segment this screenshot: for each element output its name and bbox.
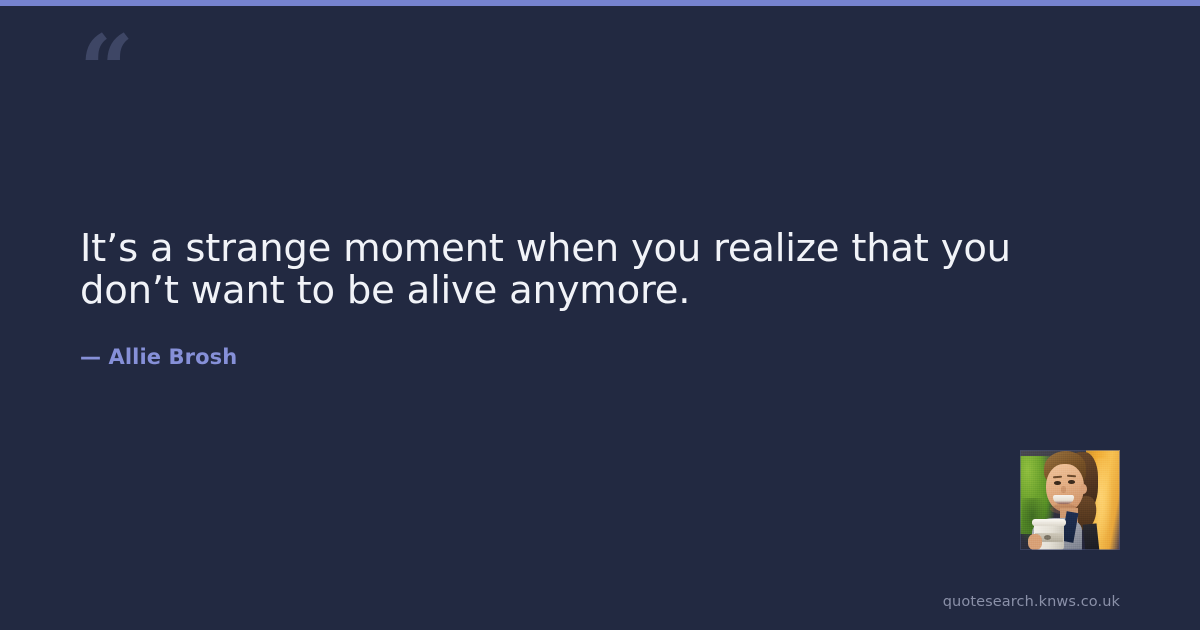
top-accent-bar — [0, 0, 1200, 6]
site-watermark: quotesearch.knws.co.uk — [943, 594, 1120, 610]
quote-attribution: — Allie Brosh — [80, 345, 237, 369]
quote-card: “ It’s a strange moment when you realize… — [0, 0, 1200, 630]
open-quote-icon: “ — [79, 23, 132, 119]
quote-text: It’s a strange moment when you realize t… — [80, 228, 1040, 312]
photo-edge — [1020, 450, 1120, 550]
quote-block: It’s a strange moment when you realize t… — [80, 228, 1040, 312]
author-thumbnail — [1020, 450, 1120, 550]
